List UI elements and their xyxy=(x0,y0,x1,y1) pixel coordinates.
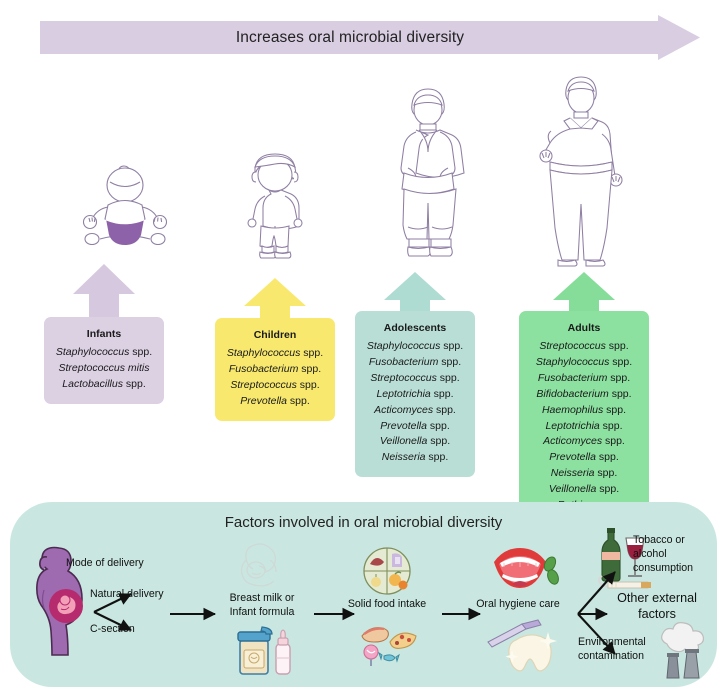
factors-panel: Factors involved in oral microbial diver… xyxy=(10,502,717,687)
environmental-line2: contamination xyxy=(578,650,646,664)
node-mode-of-delivery: Mode of delivery xyxy=(66,557,144,571)
species-item: Streptococcus spp. xyxy=(525,339,643,355)
species-item: Veillonella spp. xyxy=(361,434,469,450)
species-item: Staphylococcus spp. xyxy=(361,339,469,355)
species-item: Fusobacterium spp. xyxy=(221,362,329,378)
adolescent-figure-icon xyxy=(378,84,478,264)
formula-bottle-icon xyxy=(232,624,298,679)
species-item: Veillonella spp. xyxy=(525,482,643,498)
adolescents-box: Adolescents Staphylococcus spp. Fusobact… xyxy=(355,311,475,477)
adolescents-title: Adolescents xyxy=(361,321,469,337)
node-natural-delivery: Natural delivery xyxy=(90,588,164,602)
node-solid-food: Solid food intake xyxy=(336,598,438,612)
toothbrush-tooth-icon xyxy=(482,620,564,672)
infants-box: Infants Staphylococcus spp. Streptococcu… xyxy=(44,317,164,404)
species-item: Staphylococcus spp. xyxy=(221,346,329,362)
node-environmental-contamination: Environmental contamination xyxy=(578,636,646,664)
species-item: Acticomyces spp. xyxy=(361,403,469,419)
infants-up-arrow xyxy=(73,264,135,325)
node-oral-hygiene: Oral hygiene care xyxy=(462,598,574,612)
node-breast-milk: Breast milk or Infant formula xyxy=(214,592,310,620)
species-item: Prevotella spp. xyxy=(221,394,329,410)
breast-milk-line2: Infant formula xyxy=(214,606,310,620)
tobacco-line2: consumption xyxy=(633,562,717,576)
banner-label: Increases oral microbial diversity xyxy=(40,15,660,60)
species-item: Acticomyces spp. xyxy=(525,434,643,450)
other-external-line1: Other external xyxy=(600,590,714,606)
children-box: Children Staphylococcus spp. Fusobacteri… xyxy=(215,318,335,421)
adults-title: Adults xyxy=(525,321,643,337)
species-item: Prevotella spp. xyxy=(361,419,469,435)
node-other-external-factors: Other external factors xyxy=(600,590,714,623)
species-item: Fusobacterium spp. xyxy=(361,355,469,371)
node-c-section: C-section xyxy=(90,623,135,637)
sweets-icon xyxy=(358,620,422,666)
species-item: Streptococcus mitis xyxy=(50,361,158,377)
adult-figure-icon xyxy=(520,72,630,268)
species-item: Leptotrichia spp. xyxy=(361,387,469,403)
children-title: Children xyxy=(221,328,329,344)
adults-box: Adults Streptococcus spp. Staphylococcus… xyxy=(519,311,649,525)
open-mouth-icon xyxy=(490,544,562,596)
food-plate-icon xyxy=(362,546,412,596)
diversity-banner-arrow: Increases oral microbial diversity xyxy=(40,15,700,60)
breast-milk-line1: Breast milk or xyxy=(214,592,310,606)
species-item: Staphylococcus spp. xyxy=(525,355,643,371)
species-item: Fusobacterium spp. xyxy=(525,371,643,387)
environmental-line1: Environmental xyxy=(578,636,646,650)
species-item: Neisseria spp. xyxy=(525,466,643,482)
infographic-root: Increases oral microbial diversity xyxy=(0,0,727,695)
species-item: Bifidobacterium spp. xyxy=(525,387,643,403)
species-item: Prevotella spp. xyxy=(525,450,643,466)
species-item: Lactobacillus spp. xyxy=(50,377,158,393)
infants-title: Infants xyxy=(50,327,158,343)
other-external-line2: factors xyxy=(600,606,714,622)
species-item: Streptococcus spp. xyxy=(221,378,329,394)
child-figure-icon xyxy=(225,146,325,261)
tobacco-line1: Tobacco or alcohol xyxy=(633,534,717,562)
breastfeeding-icon xyxy=(232,540,294,588)
species-item: Haemophilus spp. xyxy=(525,403,643,419)
species-item: Leptotrichia spp. xyxy=(525,419,643,435)
species-item: Streptococcus spp. xyxy=(361,371,469,387)
baby-figure-icon xyxy=(70,160,180,260)
species-item: Staphylococcus spp. xyxy=(50,345,158,361)
node-tobacco-alcohol: Tobacco or alcohol consumption xyxy=(633,534,717,576)
species-item: Neisseria spp. xyxy=(361,450,469,466)
factory-smokestack-icon xyxy=(655,622,713,680)
